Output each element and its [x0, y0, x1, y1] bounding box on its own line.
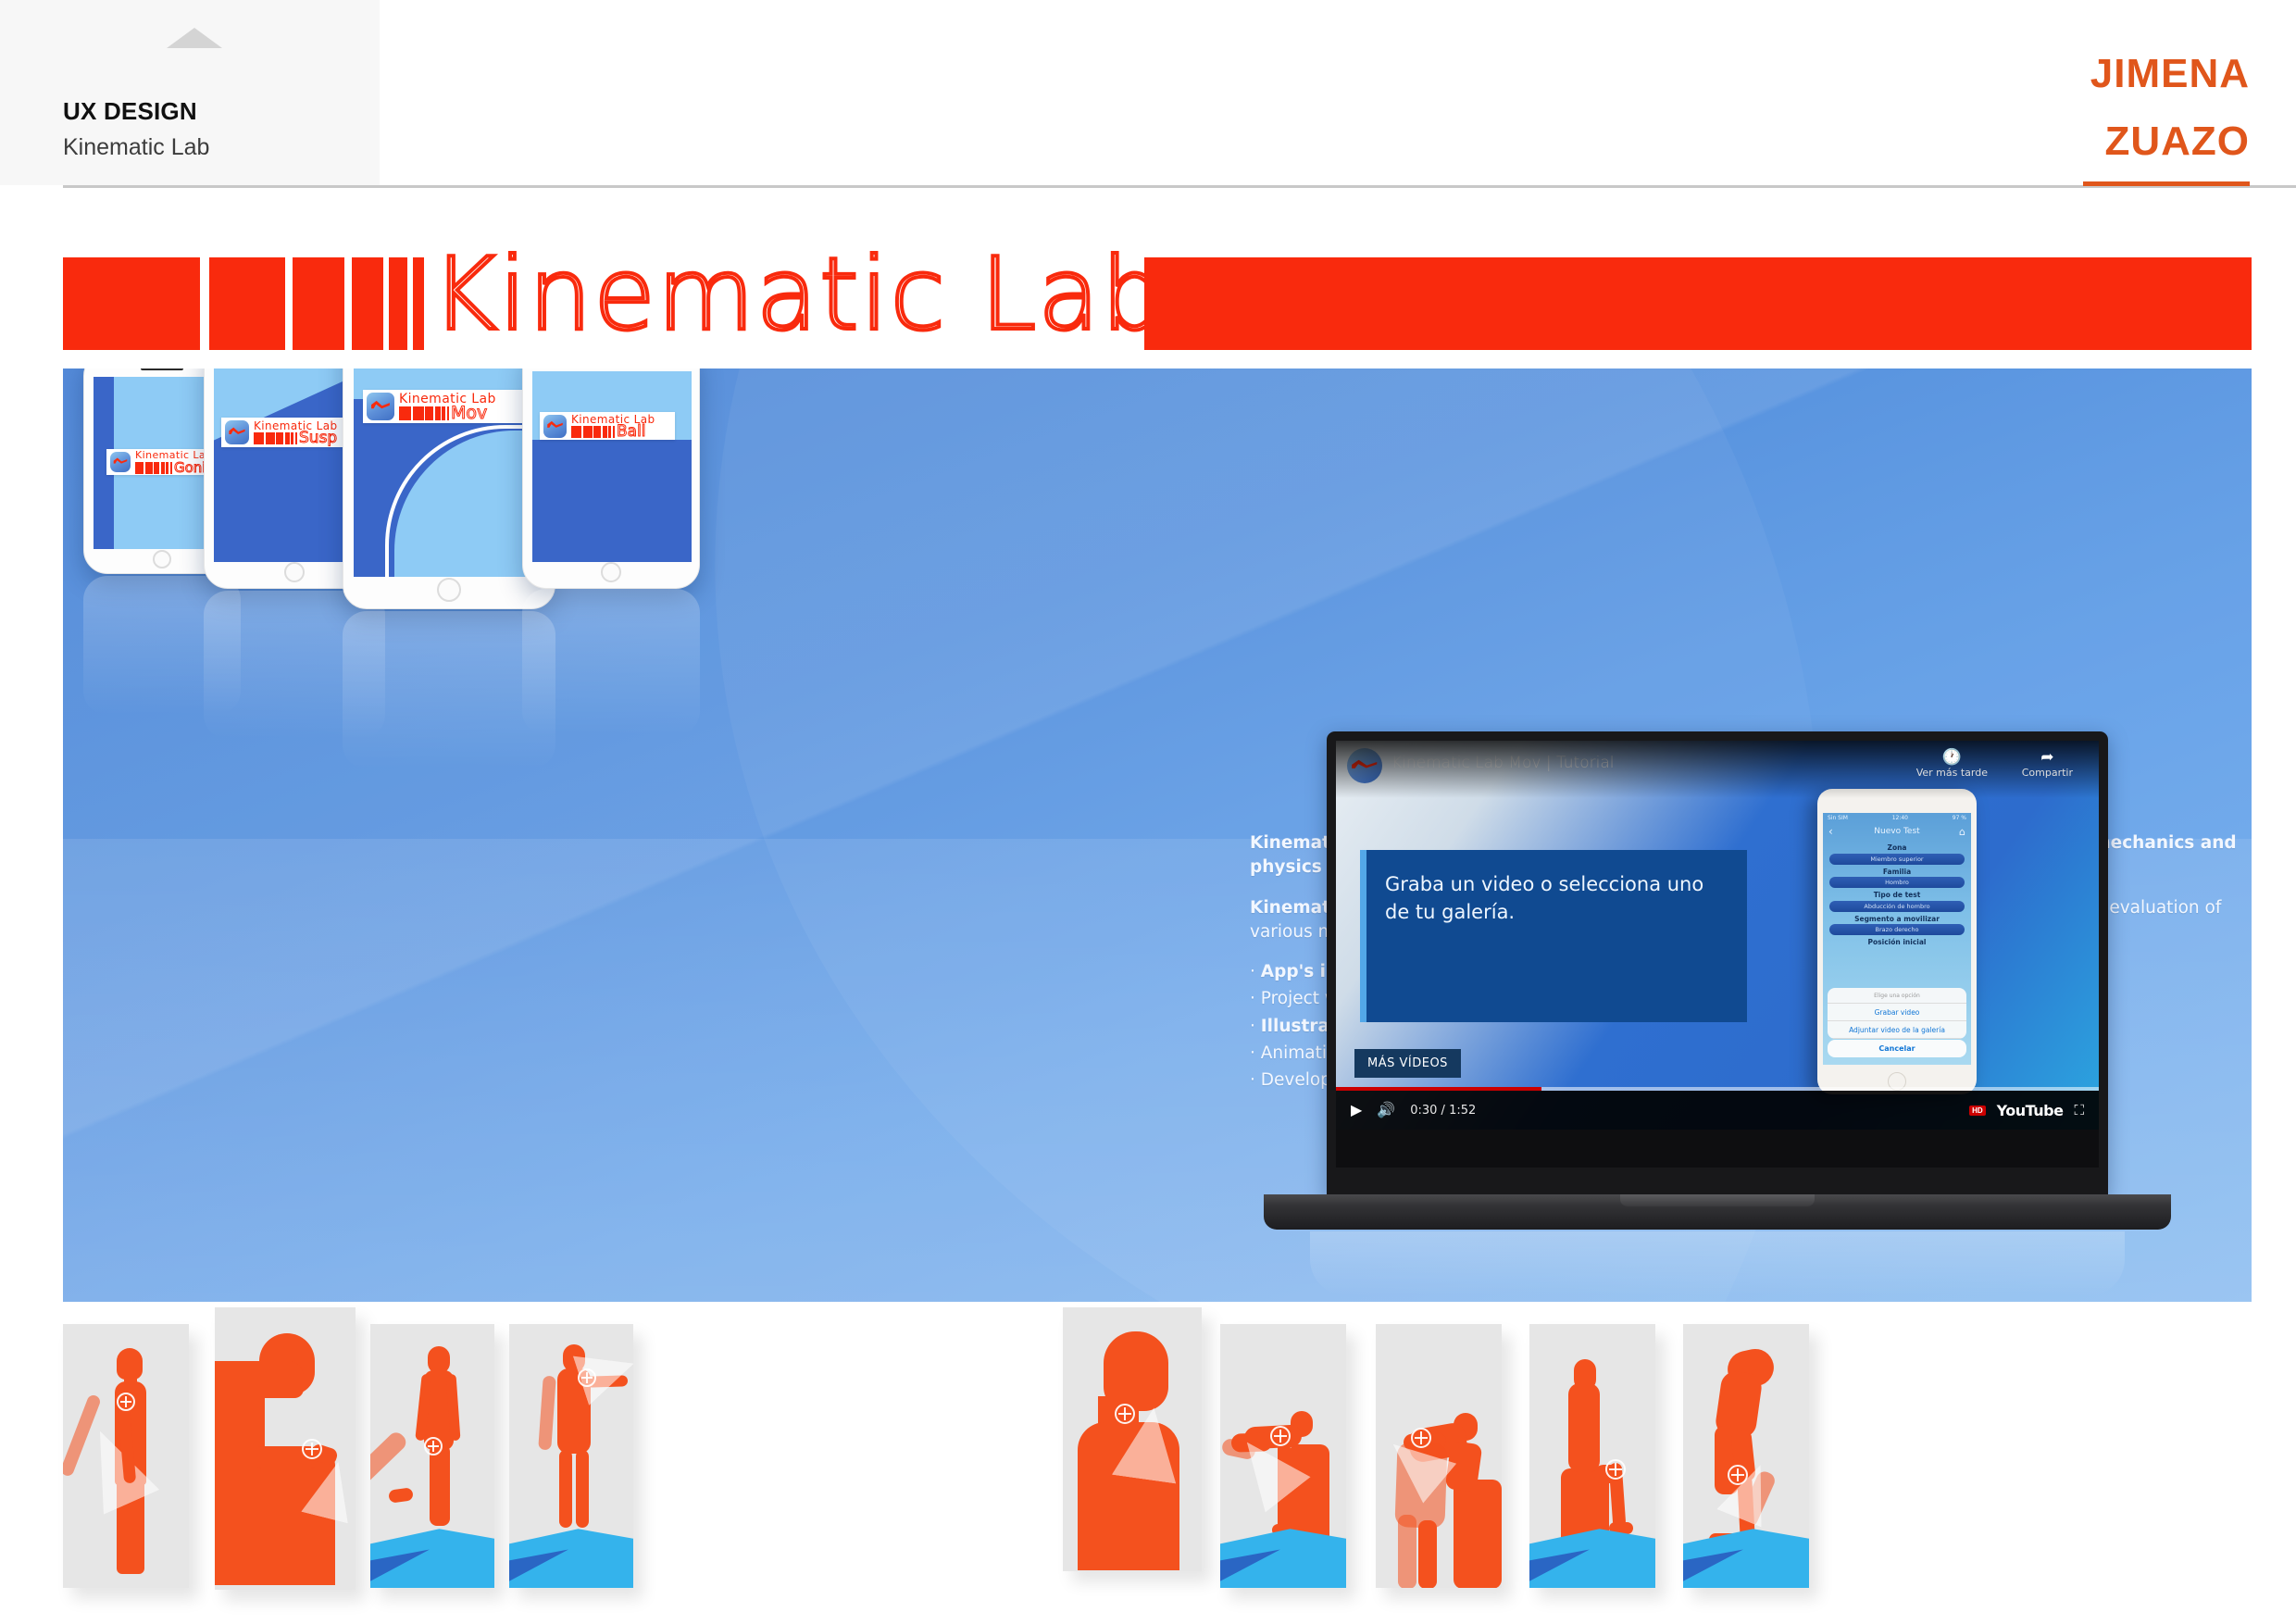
author-underline [2083, 181, 2250, 186]
video-time: 0:30 / 1:52 [1410, 1104, 1476, 1118]
brand-wordmark: Kinematic Lab [431, 237, 1167, 353]
field-value-zona[interactable]: Miembro superior [1829, 854, 1965, 865]
exercise-thumb-knee-extension-seated[interactable] [1529, 1324, 1655, 1588]
app-suffix-label: Ball [617, 426, 646, 438]
app-suffix-bars: Susp [254, 432, 338, 444]
screen-letterbox [1336, 1130, 2099, 1168]
header-divider [63, 185, 2296, 188]
back-chevron-icon[interactable]: ‹ [1828, 825, 1833, 838]
home-button[interactable] [284, 562, 305, 582]
video-controls-bar: ▶ 🔊 0:30 / 1:52 HD YouTube ⛶ [1336, 1091, 2099, 1130]
fullscreen-icon[interactable]: ⛶ [2074, 1103, 2084, 1118]
page-category: UX DESIGN [63, 97, 197, 126]
action-attach-video[interactable]: Adjuntar video de la galería [1828, 1021, 1966, 1039]
laptop-screen: Sin SIM 12:40 97 % ‹ Nuevo Test ⌂ Zona M… [1336, 741, 2099, 1168]
banner-bar-6 [413, 257, 424, 350]
play-icon[interactable]: ▶ [1351, 1101, 1362, 1119]
floor-graphic [1529, 1519, 1655, 1588]
action-record-video[interactable]: Grabar video [1828, 1004, 1966, 1021]
laptop-hinge-notch [1620, 1194, 1815, 1206]
app-suffix-bars: Gonio [135, 462, 215, 474]
phone-mockup-ball[interactable]: Kinematic Lab Ball [522, 369, 700, 589]
bullet-pre: · [1250, 962, 1261, 981]
app-icon-susp [225, 420, 249, 444]
field-value-tipo[interactable]: Abducción de hombro [1829, 901, 1965, 912]
laptop-mockup: Sin SIM 12:40 97 % ‹ Nuevo Test ⌂ Zona M… [1264, 731, 2171, 1250]
exercise-thumb-knee-flexion-standing[interactable] [370, 1324, 494, 1588]
home-button[interactable] [437, 578, 461, 602]
field-label: Zona [1823, 843, 1971, 852]
more-videos-button[interactable]: MÁS VÍDEOS [1354, 1049, 1461, 1078]
banner-bar-right [1144, 257, 2252, 350]
field-value-segmento[interactable]: Brazo derecho [1829, 924, 1965, 935]
app-suffix-bars: Ball [571, 426, 655, 438]
video-caption: Graba un video o selecciona uno de tu ga… [1360, 850, 1747, 1022]
exercise-thumb-trunk-flexion[interactable] [1376, 1324, 1502, 1588]
field-value-familia[interactable]: Hombro [1829, 877, 1965, 888]
volume-icon[interactable]: 🔊 [1377, 1101, 1395, 1119]
share-button[interactable]: ➦ Compartir [2022, 748, 2073, 779]
field-label: Segmento a movilizar [1823, 915, 1971, 923]
controls-right-group: HD YouTube ⛶ [1969, 1102, 2084, 1119]
speaker-grille [141, 369, 183, 370]
exercise-thumb-cervical-rotation[interactable] [1063, 1307, 1202, 1571]
nav-title: Nuevo Test [1874, 827, 1919, 836]
field-label: Tipo de test [1823, 891, 1971, 899]
youtube-logo[interactable]: YouTube [1997, 1102, 2064, 1119]
battery-label: 97 % [1953, 815, 1966, 821]
field-label-posicion: Posición inicial [1823, 938, 1971, 946]
app-logo-gonio: Kinematic Lab Gonio [106, 449, 216, 475]
exercise-illustrations-row [0, 1307, 2296, 1624]
share-arrow-icon: ➦ [2022, 748, 2073, 767]
floor-graphic [370, 1519, 494, 1588]
floor-graphic [1220, 1519, 1346, 1588]
watch-later-button[interactable]: 🕐 Ver más tarde [1916, 748, 1988, 779]
youtube-player[interactable]: Sin SIM 12:40 97 % ‹ Nuevo Test ⌂ Zona M… [1336, 741, 2099, 1130]
clock-icon: 🕐 [1916, 748, 1988, 767]
banner-bar-1 [63, 257, 200, 350]
floor-graphic [509, 1519, 633, 1588]
triangle-up-icon [167, 28, 222, 48]
banner-bar-4 [352, 257, 383, 350]
app-suffix-label: Susp [299, 432, 337, 444]
floor-graphic [1683, 1519, 1809, 1588]
laptop-lid: Sin SIM 12:40 97 % ‹ Nuevo Test ⌂ Zona M… [1327, 731, 2108, 1197]
exercise-thumb-shoulder-extension[interactable] [63, 1324, 189, 1588]
in-video-phone-screen: Sin SIM 12:40 97 % ‹ Nuevo Test ⌂ Zona M… [1823, 813, 1971, 1065]
home-button[interactable] [153, 550, 171, 568]
in-video-phone: Sin SIM 12:40 97 % ‹ Nuevo Test ⌂ Zona M… [1817, 789, 1977, 1094]
bullet-pre: · [1250, 1017, 1261, 1036]
phone-status-bar: Sin SIM 12:40 97 % [1823, 813, 1971, 823]
laptop-reflection [1310, 1231, 2125, 1296]
app-suffix-label: Mov [451, 406, 487, 420]
app-logo-susp: Kinematic Lab Susp [221, 418, 358, 447]
brand-banner: Kinematic Lab [63, 257, 2252, 350]
page-title: Kinematic Lab [63, 134, 209, 161]
author-first-name: JIMENA [2090, 51, 2250, 97]
phone-screen-mov: Kinematic Lab Mov [354, 369, 546, 577]
exercise-thumb-knee-flexion-bend[interactable] [1683, 1324, 1809, 1588]
carrier-label: Sin SIM [1828, 815, 1848, 821]
home-button[interactable] [601, 562, 621, 582]
app-icon-mov [367, 393, 394, 420]
phone-screen-ball: Kinematic Lab Ball [532, 371, 692, 562]
app-icon-ball [543, 415, 567, 438]
banner-bar-3 [293, 257, 344, 350]
action-sheet-title: Elige una opción [1828, 988, 1966, 1004]
banner-bar-5 [389, 257, 407, 350]
phone-reflection-ball [522, 589, 700, 735]
exercise-thumb-hip-extension[interactable] [1220, 1324, 1346, 1588]
share-label: Compartir [2022, 767, 2073, 779]
phone-nav-bar: ‹ Nuevo Test ⌂ [1823, 823, 1971, 840]
app-suffix-bars: Mov [399, 406, 496, 420]
action-sheet: Elige una opción Grabar video Adjuntar v… [1828, 988, 1966, 1039]
exercise-thumb-wrist-flexion[interactable] [215, 1307, 356, 1590]
banner-bar-2 [209, 257, 285, 350]
author-last-name: ZUAZO [2104, 119, 2250, 165]
clock-label: 12:40 [1892, 815, 1908, 821]
app-icon-gonio [110, 452, 131, 472]
page-header: UX DESIGN Kinematic Lab JIMENA ZUAZO [0, 0, 2296, 185]
hd-badge: HD [1969, 1106, 1986, 1116]
exercise-thumb-shoulder-abduction[interactable] [509, 1324, 633, 1588]
watch-later-label: Ver más tarde [1916, 767, 1988, 779]
action-cancel[interactable]: Cancelar [1828, 1040, 1966, 1057]
app-logo-mov: Kinematic Lab Mov [363, 390, 526, 423]
home-icon[interactable]: ⌂ [1959, 826, 1965, 838]
field-label: Familia [1823, 868, 1971, 876]
app-logo-ball: Kinematic Lab Ball [540, 412, 675, 440]
